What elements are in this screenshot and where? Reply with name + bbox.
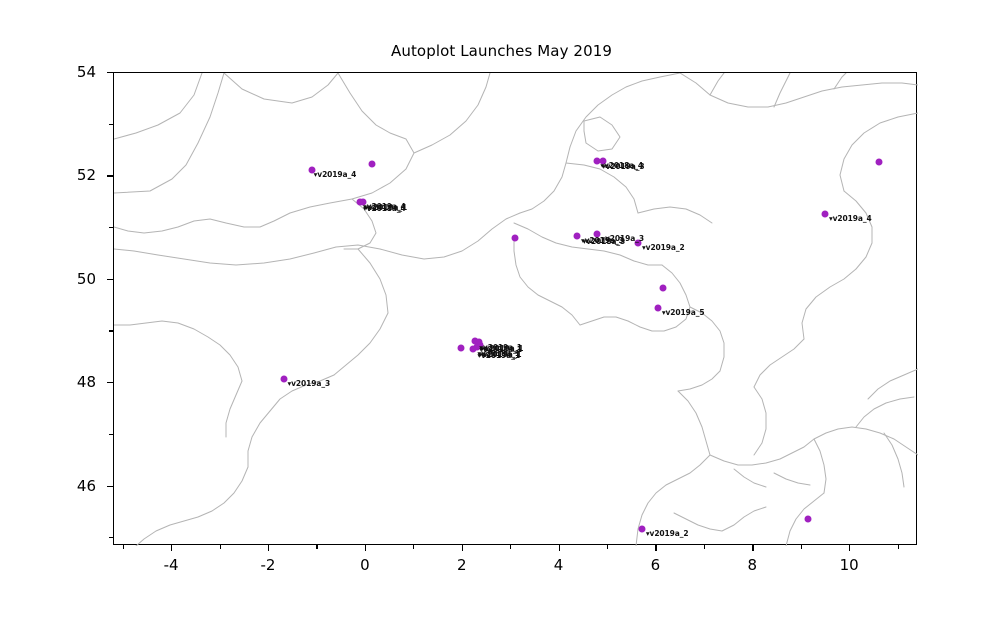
figure-canvas: Autoplot Launches May 2019 — [0, 0, 1003, 633]
data-point-label: ▾v2019a_3 — [602, 163, 645, 171]
data-point — [876, 159, 883, 166]
x-axis-tick-label: 0 — [360, 556, 370, 574]
x-axis-minor-tick — [123, 545, 124, 549]
x-axis-tick-label: 10 — [840, 556, 859, 574]
x-axis-tick-label: 2 — [457, 556, 467, 574]
y-axis-minor-tick — [109, 330, 113, 331]
plot-area: ▾v2019a_4▾v2019a_4▾v2019a_1▾v2018a_4▾v20… — [113, 72, 917, 545]
basemap-coastlines — [114, 73, 918, 546]
x-axis-minor-tick — [316, 545, 317, 549]
x-axis-minor-tick — [801, 545, 802, 549]
y-axis-tick — [107, 175, 113, 176]
y-axis-minor-tick — [109, 434, 113, 435]
y-axis-tick-label: 54 — [38, 63, 96, 81]
data-point-label: ▾v2019a_4 — [314, 171, 357, 179]
y-axis-minor-tick — [109, 124, 113, 125]
data-point — [368, 160, 375, 167]
data-point — [280, 375, 287, 382]
x-axis-tick — [365, 545, 366, 551]
data-point — [457, 345, 464, 352]
y-axis-tick — [107, 72, 113, 73]
x-axis-tick — [752, 545, 753, 551]
x-axis-minor-tick — [607, 545, 608, 549]
x-axis-tick-label: 8 — [748, 556, 758, 574]
x-axis-minor-tick — [220, 545, 221, 549]
data-point — [470, 346, 477, 353]
data-point-label: ▾v2019a_4 — [829, 215, 872, 223]
y-axis-minor-tick — [109, 227, 113, 228]
data-point — [638, 525, 645, 532]
data-point — [659, 285, 666, 292]
x-axis-minor-tick — [898, 545, 899, 549]
x-axis-minor-tick — [510, 545, 511, 549]
x-axis-tick — [171, 545, 172, 551]
data-point-label: ▾v2019a_2 — [646, 530, 689, 538]
data-point-label: ▾v2019a_3 — [601, 235, 644, 243]
y-axis-tick — [107, 382, 113, 383]
page-title: Autoplot Launches May 2019 — [0, 42, 1003, 60]
data-point-label: ▾v2019a_3 — [287, 380, 330, 388]
y-axis-tick-label: 52 — [38, 166, 96, 184]
data-point-label: ▾v2019a_5 — [662, 309, 705, 317]
x-axis-tick-label: -2 — [261, 556, 276, 574]
data-point — [512, 235, 519, 242]
data-point — [822, 210, 829, 217]
x-axis-minor-tick — [704, 545, 705, 549]
data-point-label: ▾v2019a_2 — [642, 244, 685, 252]
x-axis-tick — [655, 545, 656, 551]
y-axis-tick — [107, 486, 113, 487]
data-point-label: ▾v2019a_1 — [477, 352, 520, 360]
y-axis-tick-label: 48 — [38, 373, 96, 391]
x-axis-tick-label: 4 — [554, 556, 564, 574]
x-axis-tick — [268, 545, 269, 551]
x-axis-tick-label: 6 — [651, 556, 661, 574]
x-axis-tick — [462, 545, 463, 551]
y-axis-tick — [107, 279, 113, 280]
data-point-label: ▾v2018a_4 — [363, 205, 406, 213]
x-axis-minor-tick — [413, 545, 414, 549]
data-point — [654, 305, 661, 312]
y-axis-minor-tick — [109, 537, 113, 538]
y-axis-tick-label: 46 — [38, 477, 96, 495]
x-axis-tick — [849, 545, 850, 551]
x-axis-tick — [559, 545, 560, 551]
data-point — [573, 232, 580, 239]
data-point — [804, 515, 811, 522]
x-axis-tick-label: -4 — [164, 556, 179, 574]
y-axis-tick-label: 50 — [38, 270, 96, 288]
